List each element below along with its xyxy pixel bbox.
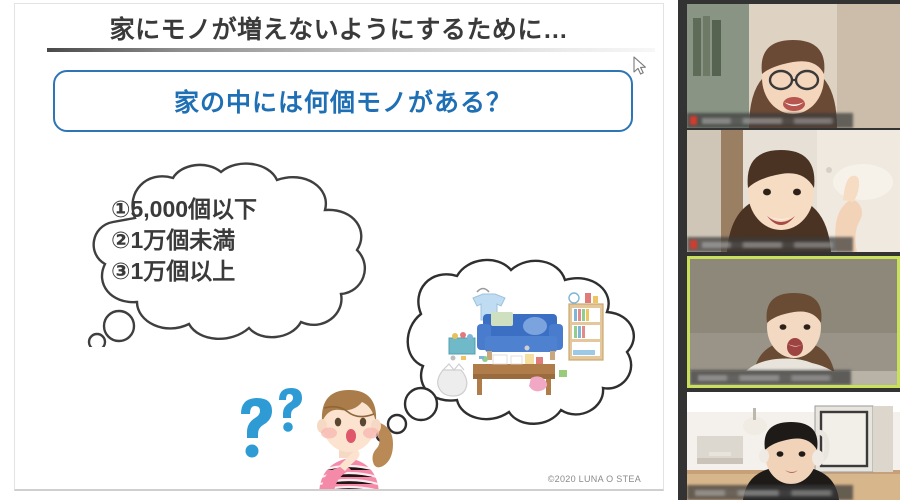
question-text: 家の中には何個モノがある？ bbox=[174, 83, 512, 119]
video-tile-1[interactable] bbox=[687, 4, 900, 128]
participant-name-bar-3 bbox=[690, 370, 851, 385]
screen-share-meeting-window: 家にモノが増えないようにするために… 家の中には何個モノがある？ ①5,000個… bbox=[0, 0, 900, 500]
participant-name-blurred-1 bbox=[702, 118, 853, 124]
shared-screen-region: 家にモノが増えないようにするために… 家の中には何個モノがある？ ①5,000個… bbox=[0, 0, 678, 500]
participant-name-blurred-4 bbox=[695, 490, 853, 496]
participant-name-bar-1 bbox=[687, 113, 853, 128]
participant-name-bar-2 bbox=[687, 237, 853, 252]
presentation-slide: 家にモノが増えないようにするために… 家の中には何個モノがある？ ①5,000個… bbox=[14, 3, 664, 491]
answer-option-2: ②1万個未満 bbox=[111, 225, 361, 256]
answer-options-list: ①5,000個以下 ②1万個未満 ③1万個以上 bbox=[111, 194, 361, 287]
participant-name-blurred-2 bbox=[702, 242, 853, 248]
mic-muted-icon-1 bbox=[690, 116, 697, 125]
slide-title: 家にモノが増えないようにするために… bbox=[15, 10, 663, 46]
video-tile-2[interactable] bbox=[687, 130, 900, 252]
answer-option-3: ③1万個以上 bbox=[111, 256, 361, 287]
title-divider-rule bbox=[47, 48, 655, 52]
mic-muted-icon-2 bbox=[690, 240, 697, 249]
video-tile-4[interactable] bbox=[687, 392, 900, 500]
copyright-notice: ©2020 LUNA O STEA bbox=[548, 474, 641, 484]
question-callout-box: 家の中には何個モノがある？ bbox=[53, 70, 633, 132]
video-tile-3-active-speaker[interactable] bbox=[687, 256, 900, 388]
cluttered-room-thought-cloud bbox=[373, 252, 643, 442]
participant-name-blurred-3 bbox=[698, 375, 851, 381]
answer-option-1: ①5,000個以下 bbox=[111, 194, 361, 225]
thinking-person-illustration bbox=[293, 378, 405, 491]
participant-name-bar-4 bbox=[687, 485, 853, 500]
